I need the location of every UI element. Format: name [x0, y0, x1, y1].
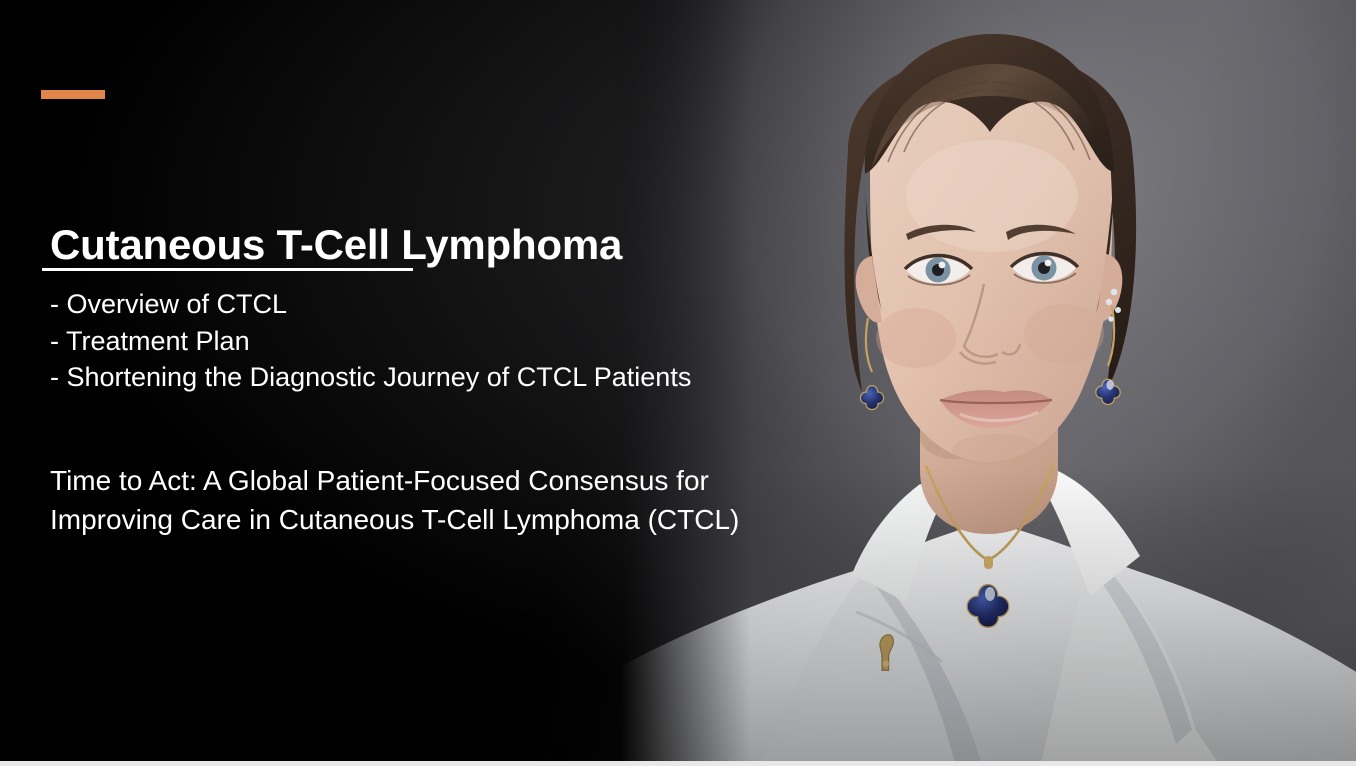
bottom-edge-strip [0, 761, 1356, 766]
page-title: Cutaneous T-Cell Lymphoma [50, 223, 622, 267]
agenda-item: - Overview of CTCL [50, 286, 870, 323]
accent-bar [41, 90, 105, 99]
title-underline-rule [42, 268, 413, 271]
agenda-item: - Shortening the Diagnostic Journey of C… [50, 359, 870, 396]
subtitle-line: Time to Act: A Global Patient-Focused Co… [50, 461, 890, 500]
agenda-list: - Overview of CTCL - Treatment Plan - Sh… [50, 286, 870, 396]
subtitle-block: Time to Act: A Global Patient-Focused Co… [50, 461, 890, 539]
subtitle-line: Improving Care in Cutaneous T-Cell Lymph… [50, 500, 890, 539]
agenda-item: - Treatment Plan [50, 323, 870, 360]
presentation-slide: Cutaneous T-Cell Lymphoma - Overview of … [0, 0, 1356, 766]
